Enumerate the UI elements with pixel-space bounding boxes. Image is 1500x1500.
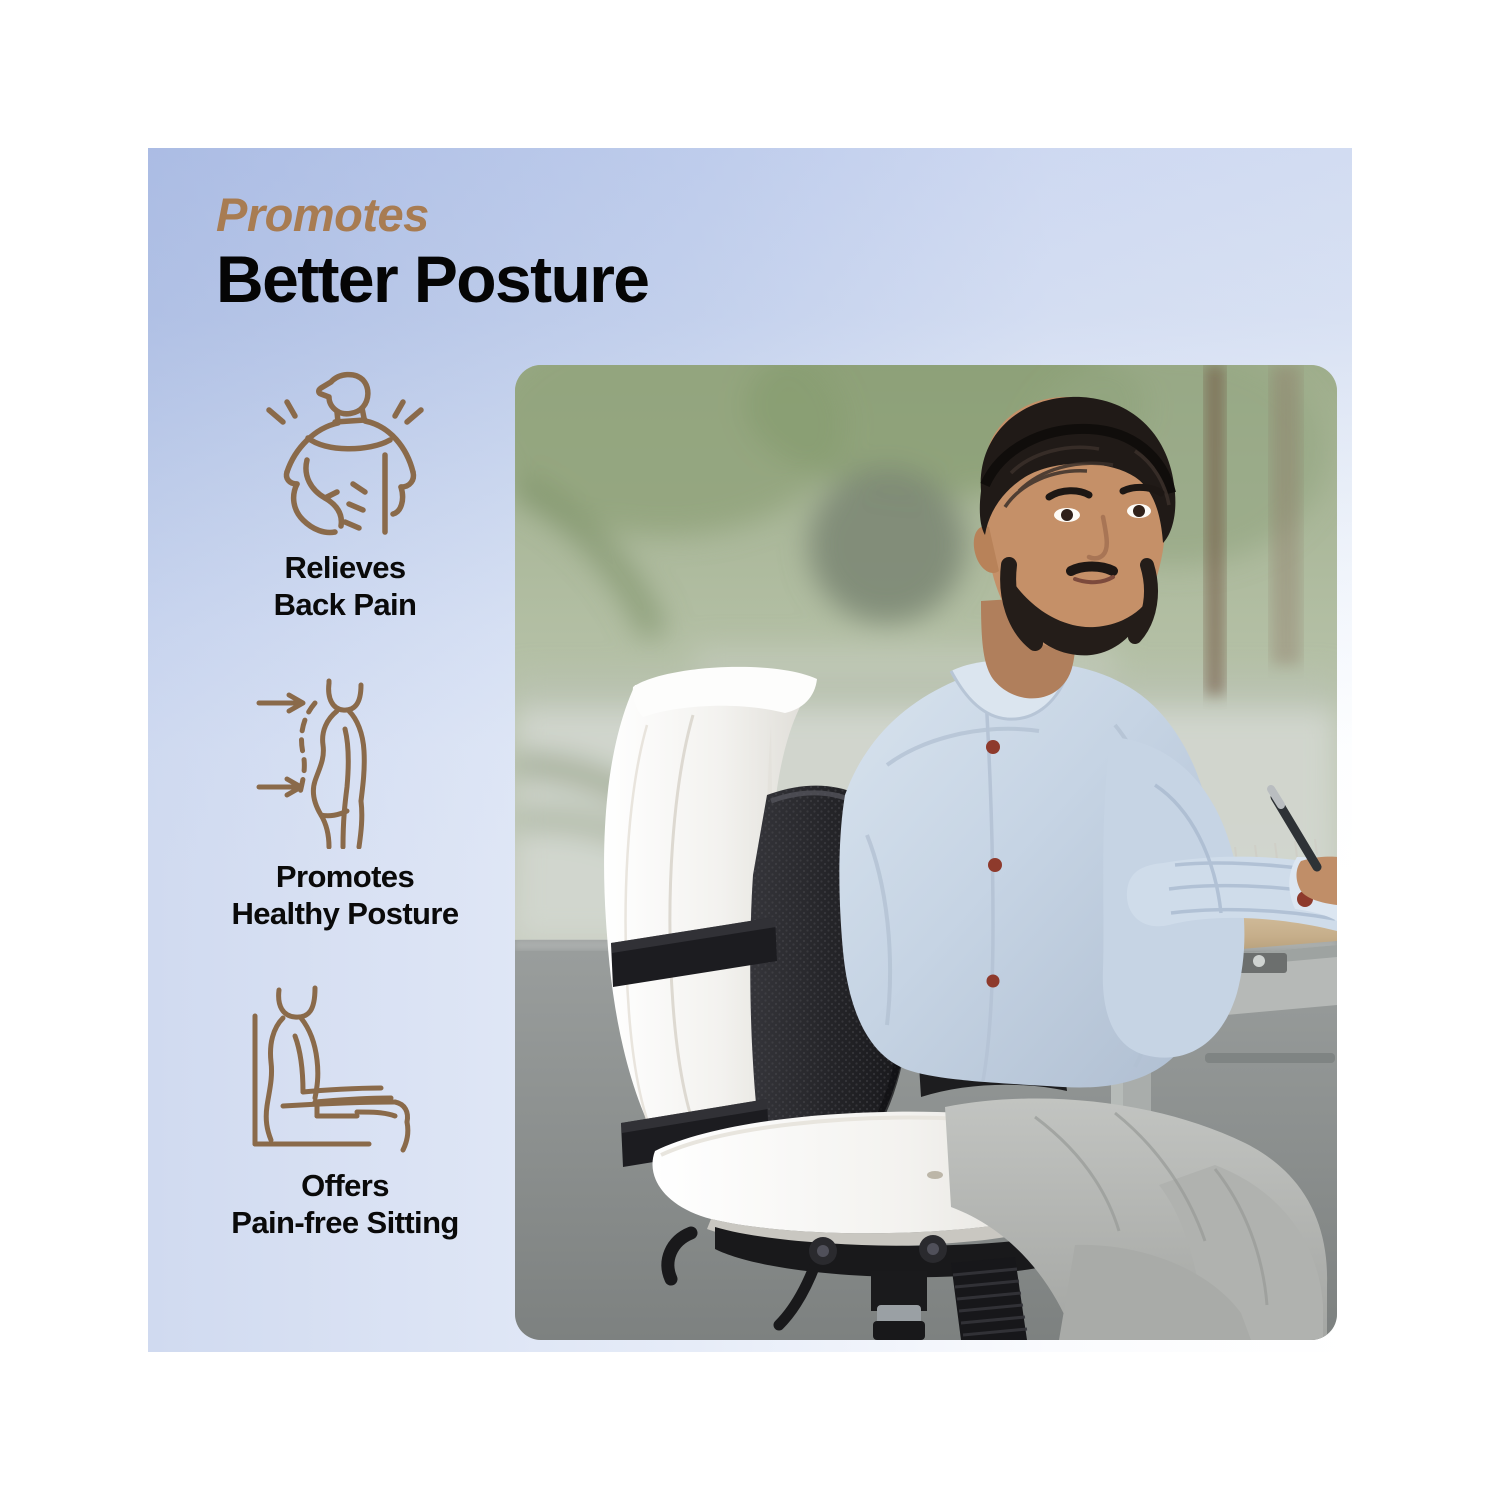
product-lifestyle-photo: [515, 365, 1337, 1340]
photo-scene: [515, 365, 1337, 1340]
feature-label: Offers Pain-free Sitting: [180, 1168, 510, 1241]
feature-label: Relieves Back Pain: [180, 550, 510, 623]
product-infographic-canvas: Promotes Better Posture: [0, 0, 1500, 1500]
headline-eyebrow: Promotes: [216, 190, 916, 239]
feature-item-pain-free-sitting: Offers Pain-free Sitting: [180, 978, 510, 1241]
back-pain-person-icon: [180, 360, 510, 540]
feature-item-healthy-posture: Promotes Healthy Posture: [180, 669, 510, 932]
feature-label: Promotes Healthy Posture: [180, 859, 510, 932]
seated-person-chair-icon: [180, 978, 510, 1158]
feature-list: Relieves Back Pain: [180, 360, 510, 1287]
page-title: Better Posture: [216, 245, 916, 315]
posture-spine-arrows-icon: [180, 669, 510, 849]
headline-block: Promotes Better Posture: [216, 190, 916, 315]
feature-item-relieves-back-pain: Relieves Back Pain: [180, 360, 510, 623]
